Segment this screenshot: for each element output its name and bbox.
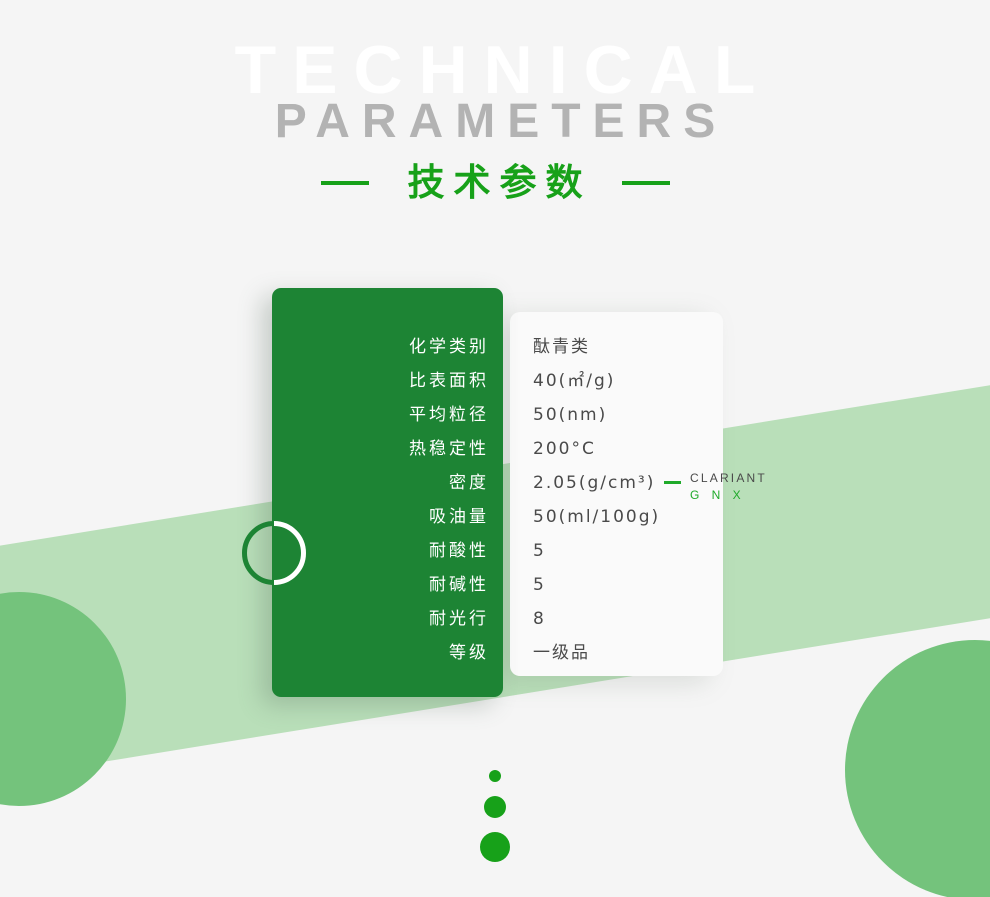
dot-large-icon: [480, 832, 510, 862]
title-technical-watermark: TECHNICAL: [0, 36, 990, 104]
subtitle-row: 技术参数: [0, 163, 990, 204]
brand-watermark: CLARIANT G N X: [664, 470, 767, 504]
spec-value: 40(㎡/g): [533, 364, 743, 398]
spec-label: 密度: [272, 466, 491, 500]
dash-left-icon: [321, 181, 369, 185]
subtitle-chinese: 技术参数: [399, 163, 592, 204]
watermark-dash-icon: [664, 481, 681, 484]
spec-value: 200°C: [533, 432, 743, 466]
watermark-brand: CLARIANT: [690, 471, 767, 485]
bottom-dots-decoration: [0, 770, 990, 862]
spec-value: 5: [533, 534, 743, 568]
spec-label: 热稳定性: [272, 432, 491, 466]
spec-label: 耐光行: [272, 602, 491, 636]
spec-labels-column: 化学类别 比表面积 平均粒径 热稳定性 密度 吸油量 耐酸性 耐碱性 耐光行 等…: [272, 330, 491, 670]
spec-value: 50(nm): [533, 398, 743, 432]
spec-value: 50(ml/100g): [533, 500, 743, 534]
spec-value: 一级品: [533, 636, 743, 670]
watermark-sub: G N X: [690, 488, 745, 502]
spec-label: 比表面积: [272, 364, 491, 398]
page-root: TECHNICAL PARAMETERS 技术参数 化学类别 比表面积 平均粒径…: [0, 0, 990, 897]
spec-value: 8: [533, 602, 743, 636]
spec-label: 平均粒径: [272, 398, 491, 432]
title-parameters: PARAMETERS: [0, 98, 990, 146]
ring-circle-white-half-icon: [274, 521, 306, 585]
dot-small-icon: [489, 770, 501, 782]
watermark-text: CLARIANT G N X: [690, 470, 767, 504]
dot-medium-icon: [484, 796, 506, 818]
spec-label: 化学类别: [272, 330, 491, 364]
spec-value: 5: [533, 568, 743, 602]
spec-value: 酞青类: [533, 330, 743, 364]
dash-right-icon: [622, 181, 670, 185]
spec-label: 等级: [272, 636, 491, 670]
